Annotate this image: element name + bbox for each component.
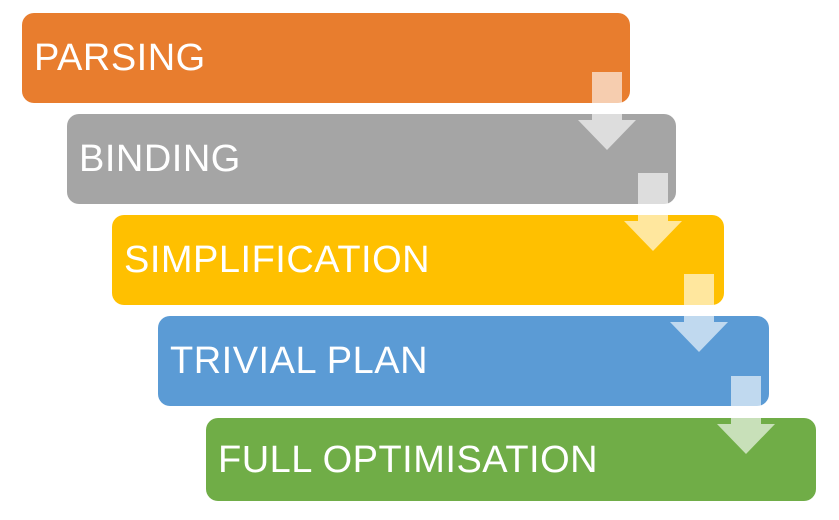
pipeline-step-label: BINDING	[67, 140, 241, 178]
pipeline-step-label: FULL OPTIMISATION	[206, 441, 598, 479]
pipeline-step-parsing[interactable]: PARSING	[22, 13, 630, 103]
pipeline-step-trivial-plan[interactable]: TRIVIAL PLAN	[158, 316, 769, 406]
pipeline-diagram: PARSING BINDING SIMPLIFICATION TRIVIAL P…	[0, 0, 839, 520]
pipeline-step-label: PARSING	[22, 39, 206, 77]
pipeline-step-full-optimisation[interactable]: FULL OPTIMISATION	[206, 418, 816, 501]
pipeline-step-label: TRIVIAL PLAN	[158, 342, 428, 380]
pipeline-step-simplification[interactable]: SIMPLIFICATION	[112, 215, 724, 305]
pipeline-step-label: SIMPLIFICATION	[112, 241, 430, 279]
pipeline-step-binding[interactable]: BINDING	[67, 114, 676, 204]
